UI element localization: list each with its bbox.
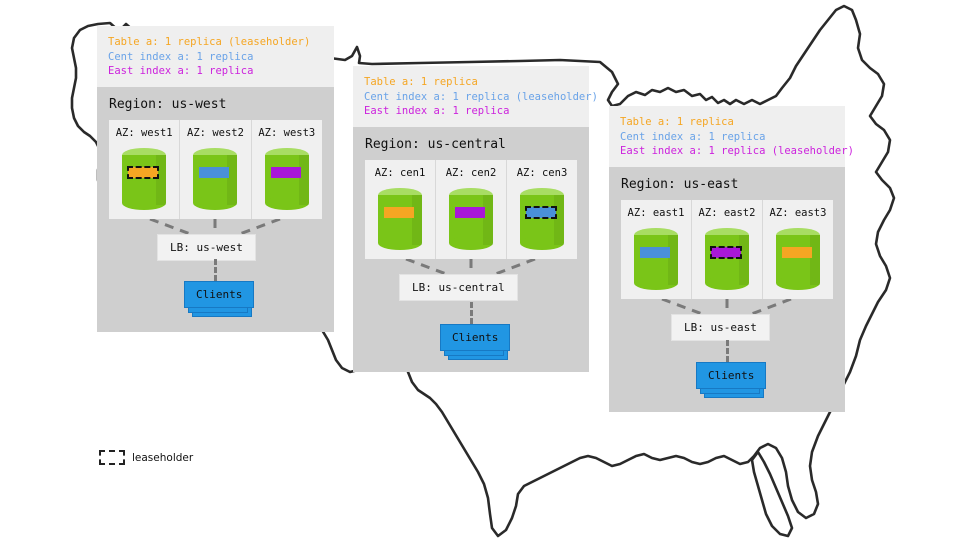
az-cell-west1: AZ: west1 [109, 120, 179, 219]
diagram-canvas: Table a: 1 replica (leaseholder) Cent in… [0, 0, 960, 540]
az-cell-west3: AZ: west3 [251, 120, 322, 219]
replica-legend-us-west: Table a: 1 replica (leaseholder) Cent in… [97, 26, 334, 87]
az-label: AZ: east3 [770, 207, 827, 219]
leaseholder-legend: leaseholder [99, 450, 193, 465]
legend-line-table: Table a: 1 replica [364, 75, 578, 90]
az-label: AZ: cen2 [446, 167, 497, 179]
clients-label: Clients [184, 281, 254, 308]
leaseholder-legend-label: leaseholder [132, 452, 193, 464]
az-panel: AZ: cen1 AZ: cen2 [365, 160, 577, 259]
load-balancer-us-central[interactable]: LB: us-central [399, 274, 518, 301]
dashed-box-icon [99, 450, 125, 465]
az-panel: AZ: east1 AZ: east2 [621, 200, 833, 299]
cylinder-shade [554, 195, 564, 245]
node-cylinder [634, 228, 678, 290]
replica-chip [455, 207, 485, 218]
az-cell-cen2: AZ: cen2 [435, 160, 506, 259]
node-cylinder [193, 148, 237, 210]
clients-label: Clients [440, 324, 510, 351]
legend-line-cent-index: Cent index a: 1 replica (leaseholder) [364, 90, 578, 105]
load-balancer-us-west[interactable]: LB: us-west [157, 234, 256, 261]
node-cylinder [122, 148, 166, 210]
replica-chip-leaseholder [526, 207, 556, 218]
replica-chip-leaseholder [128, 167, 158, 178]
clients-label: Clients [696, 362, 766, 389]
lb-to-clients-line [214, 259, 217, 281]
cylinder-shade [668, 235, 678, 285]
replica-legend-us-central: Table a: 1 replica Cent index a: 1 repli… [353, 66, 589, 127]
az-label: AZ: cen3 [517, 167, 568, 179]
replica-chip [199, 167, 229, 178]
az-cell-cen3: AZ: cen3 [506, 160, 577, 259]
az-label: AZ: west1 [116, 127, 173, 139]
replica-chip [782, 247, 812, 258]
az-label: AZ: east1 [628, 207, 685, 219]
az-cell-east1: AZ: east1 [621, 200, 691, 299]
cylinder-shade [483, 195, 493, 245]
az-cell-east3: AZ: east3 [762, 200, 833, 299]
region-card-us-west: Table a: 1 replica (leaseholder) Cent in… [97, 26, 334, 332]
region-card-us-central: Table a: 1 replica Cent index a: 1 repli… [353, 66, 589, 372]
cylinder-shade [299, 155, 309, 205]
az-label: AZ: west3 [258, 127, 315, 139]
legend-line-cent-index: Cent index a: 1 replica [108, 50, 323, 65]
lb-to-clients-line [470, 302, 473, 324]
node-cylinder [705, 228, 749, 290]
az-label: AZ: cen1 [375, 167, 426, 179]
node-cylinder [520, 188, 564, 250]
load-balancer-us-east[interactable]: LB: us-east [671, 314, 770, 341]
clients-node-us-east[interactable]: Clients [696, 362, 766, 389]
replica-chip [271, 167, 301, 178]
legend-line-east-index: East index a: 1 replica (leaseholder) [620, 144, 834, 159]
node-cylinder [265, 148, 309, 210]
cylinder-shade [156, 155, 166, 205]
az-cell-east2: AZ: east2 [691, 200, 762, 299]
legend-line-table: Table a: 1 replica [620, 115, 834, 130]
lb-to-clients-line [726, 340, 729, 362]
legend-line-east-index: East index a: 1 replica [108, 64, 323, 79]
cylinder-shade [227, 155, 237, 205]
az-label: AZ: west2 [187, 127, 244, 139]
az-label: AZ: east2 [699, 207, 756, 219]
legend-line-table: Table a: 1 replica (leaseholder) [108, 35, 323, 50]
az-panel: AZ: west1 AZ: west2 [109, 120, 322, 219]
cylinder-shade [412, 195, 422, 245]
replica-legend-us-east: Table a: 1 replica Cent index a: 1 repli… [609, 106, 845, 167]
legend-line-cent-index: Cent index a: 1 replica [620, 130, 834, 145]
az-cell-west2: AZ: west2 [179, 120, 250, 219]
replica-chip-leaseholder [711, 247, 741, 258]
node-cylinder [776, 228, 820, 290]
region-card-us-east: Table a: 1 replica Cent index a: 1 repli… [609, 106, 845, 412]
replica-chip [640, 247, 670, 258]
region-title: Region: us-west [97, 87, 334, 120]
replica-chip [384, 207, 414, 218]
node-cylinder [378, 188, 422, 250]
clients-node-us-west[interactable]: Clients [184, 281, 254, 308]
legend-line-east-index: East index a: 1 replica [364, 104, 578, 119]
cylinder-shade [810, 235, 820, 285]
node-cylinder [449, 188, 493, 250]
region-title: Region: us-central [353, 127, 589, 160]
clients-node-us-central[interactable]: Clients [440, 324, 510, 351]
az-cell-cen1: AZ: cen1 [365, 160, 435, 259]
cylinder-shade [739, 235, 749, 285]
region-title: Region: us-east [609, 167, 845, 200]
